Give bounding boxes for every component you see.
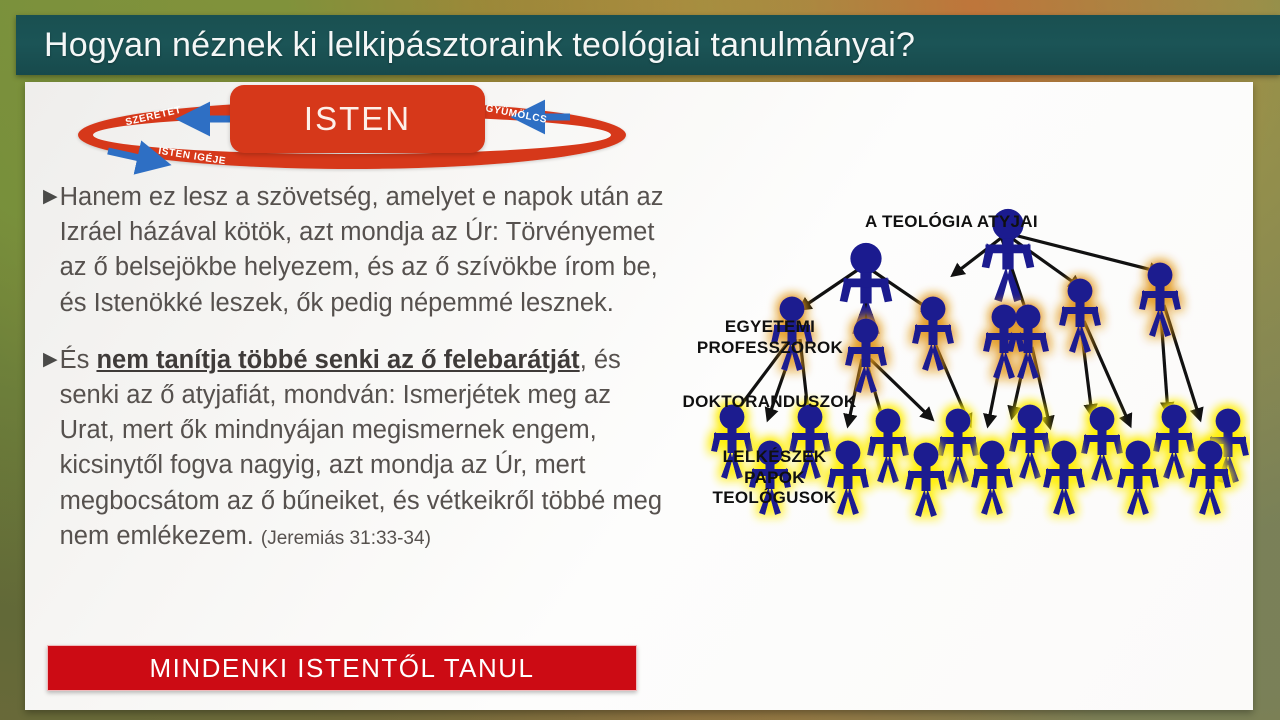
- hierarchy-label-lelkeszek-line1: LELKÉSZEK: [702, 447, 847, 468]
- hierarchy-label-doktoranduszok: DOKTORANDUSZOK: [662, 392, 877, 413]
- bullet-item: ▶ Hanem ez lesz a szövetség, amelyet e n…: [43, 180, 673, 321]
- isten-label: ISTEN: [304, 100, 411, 138]
- hierarchy-label-egyetemi-professzorok: EGYETEMI PROFESSZOROK: [680, 317, 860, 358]
- bullet-2-pre: És: [60, 346, 97, 374]
- slide-body: SZERETET GYÜMÖLCS ISTEN IGÉJE ISTEN ▶ Ha…: [25, 82, 1253, 710]
- bullet-triangle-icon: ▶: [43, 343, 58, 554]
- hierarchy-diagram: A TEOLÓGIA ATYJAI EGYETEMI PROFESSZOROK …: [640, 107, 1250, 557]
- hierarchy-label-egyetemi-line1: EGYETEMI: [680, 317, 860, 338]
- footer-banner: MINDENKI ISTENTŐL TANUL: [47, 645, 637, 691]
- verse-reference: (Jeremiás 31:33-34): [261, 528, 431, 549]
- page-title: Hogyan néznek ki lelkipásztoraink teológ…: [16, 26, 915, 65]
- bullet-paragraph-1: Hanem ez lesz a szövetség, amelyet e nap…: [60, 180, 673, 321]
- bullet-item: ▶ És nem tanítja többé senki az ő feleba…: [43, 343, 673, 554]
- footer-banner-label: MINDENKI ISTENTŐL TANUL: [149, 653, 534, 684]
- isten-center-box: ISTEN: [230, 85, 485, 153]
- hierarchy-label-lelkeszek-line2: PAPOK: [702, 468, 847, 489]
- slide-header-bar: Hogyan néznek ki lelkipásztoraink teológ…: [16, 15, 1280, 75]
- bullet-1-text: Hanem ez lesz a szövetség, amelyet e nap…: [60, 183, 664, 317]
- bullet-triangle-icon: ▶: [43, 180, 58, 321]
- bullet-paragraph-2: És nem tanítja többé senki az ő felebará…: [60, 343, 673, 554]
- bullet-2-emphasis: nem tanítja többé senki az ő felebarátjá…: [96, 346, 579, 374]
- hierarchy-label-atyjai: A TEOLÓGIA ATYJAI: [865, 212, 1038, 233]
- bullet-2-post: , és senki az ő atyjafiát, mondván: Isme…: [60, 346, 662, 550]
- hierarchy-label-egyetemi-line2: PROFESSZOROK: [680, 338, 860, 359]
- isten-cycle-diagram: SZERETET GYÜMÖLCS ISTEN IGÉJE ISTEN: [70, 87, 635, 175]
- arrow-to-isten-igeje: [108, 151, 162, 163]
- hierarchy-label-lelkeszek-line3: TEOLÓGUSOK: [702, 488, 847, 509]
- hierarchy-label-lelkeszek: LELKÉSZEK PAPOK TEOLÓGUSOK: [702, 447, 847, 509]
- scripture-text-block: ▶ Hanem ez lesz a szövetség, amelyet e n…: [43, 180, 673, 576]
